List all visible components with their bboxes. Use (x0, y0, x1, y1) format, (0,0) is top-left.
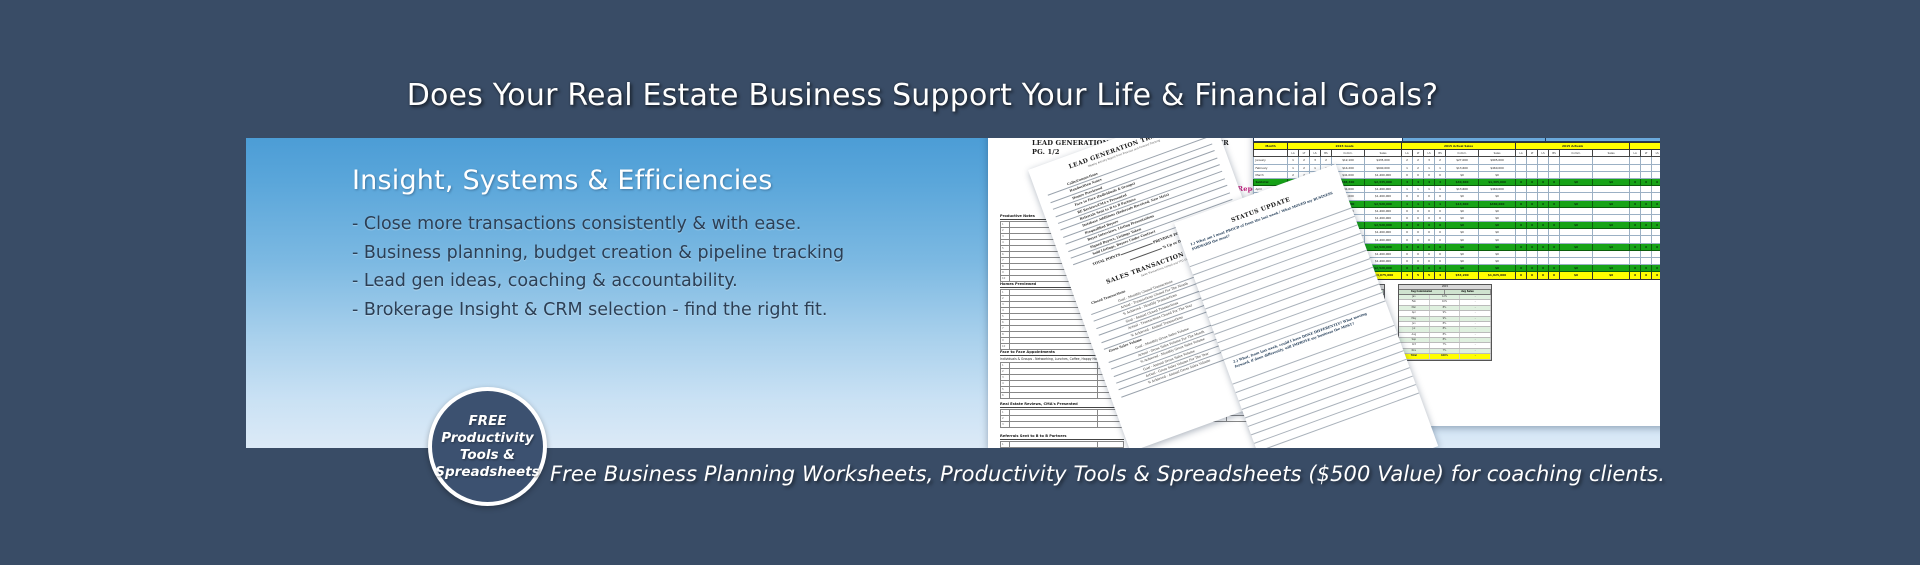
sub-header: LA (1402, 150, 1413, 157)
offer-caption: Free Business Planning Worksheets, Produ… (550, 462, 1665, 486)
mini-row-label: Jun (1399, 322, 1430, 326)
badge-line-2: Productivity (435, 430, 539, 447)
sub-header: LS (1424, 150, 1435, 157)
list-item: - Close more transactions consistently &… (352, 210, 992, 239)
group-header: 2015 Actuals (1516, 143, 1630, 150)
cell: 2 (1299, 157, 1310, 164)
cell: 1 (1435, 164, 1446, 171)
month-col-label: Month (1254, 143, 1288, 150)
group-header: 2015 Actual Sales (1402, 143, 1516, 150)
cell: 1 (1402, 164, 1413, 171)
cell: 2 (1402, 157, 1413, 164)
cell: 2 (1299, 164, 1310, 171)
cell: $0 (1479, 193, 1516, 200)
cell: 0 (1435, 171, 1446, 178)
mini-row-label: Apr (1399, 311, 1430, 315)
sub-header: Comm. (1560, 150, 1593, 157)
cell: 1 (1402, 186, 1413, 193)
worksheet-section-label: Referrals Sent to B to B Partners (1000, 434, 1124, 440)
cell: 3 (1310, 157, 1321, 164)
sub-header: LT (1413, 150, 1424, 157)
cell: $12,100 (1332, 157, 1365, 164)
table-row: January 1 2 3 2 $12,100 $435,000 2 2 3 2… (1254, 157, 1661, 164)
cell: 2 (1413, 157, 1424, 164)
sub-header: Sales (1479, 150, 1516, 157)
cell: 0 (1424, 171, 1435, 178)
cell: 1 (1413, 186, 1424, 193)
cell: $13,600 (1446, 164, 1479, 171)
cell: 0 (1413, 193, 1424, 200)
cell: 1 (1435, 186, 1446, 193)
row-month: March (1254, 171, 1288, 178)
mini-row-label: Feb (1399, 300, 1430, 304)
list-item: - Business planning, budget creation & p… (352, 239, 992, 268)
sub-header: LS (1538, 150, 1549, 157)
mini-table: 2015 Avg Commission Avg Sales Jan12%- Fe… (1398, 284, 1492, 361)
sub-header: Comm. (1446, 150, 1479, 157)
cell: $640,000 (1365, 164, 1402, 171)
sub-header: LT (1299, 150, 1310, 157)
list-item: - Lead gen ideas, coaching & accountabil… (352, 267, 992, 296)
worksheet-section-label: Real Estate Reviews, CMA's Presented (1000, 402, 1124, 408)
cell: 2 (1321, 157, 1332, 164)
cell: $460,000 (1479, 164, 1516, 171)
cell: 1 (1288, 157, 1299, 164)
mini-row-label: Aug (1399, 333, 1430, 337)
panel-heading: Insight, Systems & Efficiencies (352, 165, 772, 196)
cell: 3 (1424, 157, 1435, 164)
spreadsheet-group-header-row: Month 2015 Goals 2015 Actual Sales 2015 … (1254, 143, 1661, 150)
mini-row-label: Oct (1399, 343, 1430, 347)
worksheet-table: 1 2 3 (1000, 441, 1124, 449)
badge-text: FREE Productivity Tools & Spreadsheets (435, 413, 539, 481)
cell: 1 (1424, 186, 1435, 193)
agent-name-cell: Agent Name (1253, 138, 1403, 142)
cell: $0 (1446, 171, 1479, 178)
mini-row-label: Sep (1399, 338, 1430, 342)
cell: $1,260,000 (1365, 193, 1402, 200)
sub-header: LT (1527, 150, 1538, 157)
mini-row-label: Jan (1399, 295, 1430, 299)
cell: 0 (1424, 193, 1435, 200)
badge-line-1: FREE (435, 413, 539, 430)
sub-header: LA (1630, 150, 1641, 157)
list-item: - Brokerage Insight & CRM selection - fi… (352, 296, 992, 325)
sub-header: BS (1435, 150, 1446, 157)
spreadsheet-subheader-row: LA LT LS BS Comm. Sales LA LT LS BS Comm… (1254, 150, 1661, 157)
report-date-cell: Report Date: November 23, 201 (1546, 138, 1660, 142)
cell: $905,000 (1479, 157, 1516, 164)
cell: 0 (1402, 193, 1413, 200)
sub-header: Sales (1365, 150, 1402, 157)
promo-banner: Does Your Real Estate Business Support Y… (0, 0, 1920, 565)
page-title-text: Does Your Real Estate Business Support Y… (407, 78, 1439, 113)
list-item: Total100%- (1399, 354, 1491, 359)
cell: 1 (1288, 164, 1299, 171)
group-header: 2015 Actuals (1630, 143, 1660, 150)
sub-header: BS (1549, 150, 1560, 157)
cell: $0 (1446, 193, 1479, 200)
cell: $435,000 (1365, 157, 1402, 164)
sub-header: LA (1288, 150, 1299, 157)
sub-header: Comm. (1332, 150, 1365, 157)
badge-line-3: Tools & (435, 447, 539, 464)
page-title: Does Your Real Estate Business Support Y… (0, 78, 1920, 113)
sub-header: BS (1321, 150, 1332, 157)
worksheet-section-left-3: Real Estate Reviews, CMA's Presented 1 2… (1000, 402, 1124, 428)
cell: $1,260,000 (1365, 186, 1402, 193)
mini-col-header: Avg Commission (1399, 290, 1445, 294)
worksheet-table: 1 2 3 (1000, 409, 1124, 428)
cell: 2 (1413, 164, 1424, 171)
sub-header: LS (1310, 150, 1321, 157)
cell: $460,000 (1479, 186, 1516, 193)
row-month: February (1254, 164, 1288, 171)
sub-header: LA (1516, 150, 1527, 157)
mini-row-label: Jul (1399, 327, 1430, 331)
table-row: February 1 2 1 1 $14,200 $640,000 1 2 1 … (1254, 164, 1661, 171)
benefits-list: - Close more transactions consistently &… (352, 210, 992, 324)
cell: $27,000 (1446, 157, 1479, 164)
mini-row-label: Mar (1399, 306, 1430, 310)
sub-header: LT (1641, 150, 1652, 157)
group-header: 2015 Goals (1288, 143, 1402, 150)
sub-header: LS (1652, 150, 1660, 157)
cell: $13,600 (1446, 186, 1479, 193)
spreadsheet-header-row: Agent Name Production Tracker Report Dat… (1253, 138, 1660, 142)
worksheet-section-left-4: Referrals Sent to B to B Partners 1 2 3 (1000, 434, 1124, 448)
cell: 1 (1424, 164, 1435, 171)
cell: $0 (1479, 171, 1516, 178)
cell: 2 (1435, 157, 1446, 164)
cell: 0 (1413, 171, 1424, 178)
production-tracker-cell: Production Tracker (1403, 138, 1546, 142)
cell: 0 (1435, 193, 1446, 200)
cell: 0 (1402, 171, 1413, 178)
sub-header: Sales (1593, 150, 1630, 157)
cell: $1,260,000 (1365, 171, 1402, 178)
mini-col-header: Avg Sales (1445, 290, 1491, 294)
free-tools-badge: FREE Productivity Tools & Spreadsheets (428, 387, 547, 506)
badge-line-4: Spreadsheets (435, 464, 539, 481)
mini-row-label: May (1399, 317, 1430, 321)
row-month: January (1254, 157, 1288, 164)
